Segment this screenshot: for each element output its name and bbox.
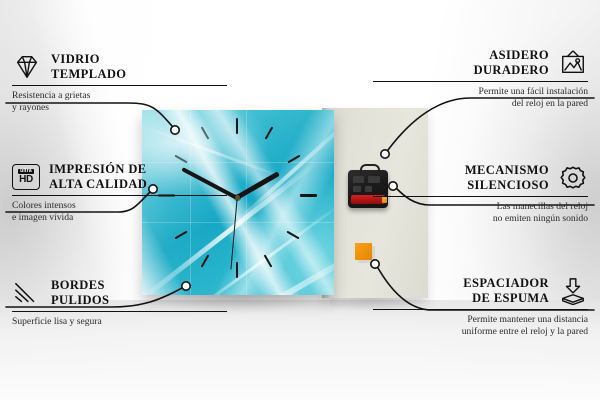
callout-divider	[373, 196, 588, 197]
callout-desc: Permite una fácil instalación	[373, 86, 588, 98]
callout-desc: Permite mantener una distancia	[373, 314, 588, 326]
callout-espaciador-de-espuma[interactable]: ESPACIADOR DE ESPUMA Permite mantener un…	[373, 276, 588, 337]
callout-impresion-alta-calidad[interactable]: ultra HD IMPRESIÓN DE ALTA CALIDAD Color…	[12, 162, 227, 223]
callout-divider	[12, 85, 227, 86]
callout-title: ASIDERO DURADERO	[474, 48, 549, 77]
diamond-icon	[12, 53, 42, 81]
callout-divider	[12, 311, 227, 312]
product-infographic: VIDRIO TEMPLADO Resistencia a grietas y …	[0, 0, 600, 400]
hour-marker	[236, 118, 238, 134]
hour-marker	[236, 262, 238, 278]
ultra-hd-icon: ultra HD	[12, 164, 40, 190]
callout-title: BORDES PULIDOS	[51, 278, 109, 307]
callout-header: ESPACIADOR DE ESPUMA	[373, 276, 588, 305]
wall-frame-hanger-icon	[558, 49, 588, 77]
callout-header: VIDRIO TEMPLADO	[12, 52, 227, 81]
callout-desc: e imagen vívida	[12, 212, 227, 224]
callout-divider	[373, 81, 588, 82]
callout-bordes-pulidos[interactable]: BORDES PULIDOS Superficie lisa y segura	[12, 278, 227, 328]
movement-slot	[353, 176, 364, 183]
callout-desc: no emiten ningún sonido	[373, 213, 588, 225]
callout-title: IMPRESIÓN DE ALTA CALIDAD	[49, 162, 147, 191]
callout-desc: y rayones	[12, 102, 227, 114]
callout-divider	[12, 195, 227, 196]
movement-slot	[365, 186, 372, 192]
callout-divider	[373, 309, 588, 310]
callout-header: BORDES PULIDOS	[12, 278, 227, 307]
hd-label: HD	[19, 174, 33, 185]
callout-header: MECANISMO SILENCIOSO	[373, 163, 588, 192]
callout-mecanismo-silencioso[interactable]: MECANISMO SILENCIOSO Las manecillas del …	[373, 163, 588, 224]
callout-title: VIDRIO TEMPLADO	[51, 52, 126, 81]
foam-spacer-arrow-icon	[558, 277, 588, 305]
callout-header: ultra HD IMPRESIÓN DE ALTA CALIDAD	[12, 162, 227, 191]
callout-desc: Colores intensos	[12, 200, 227, 212]
callout-title: ESPACIADOR DE ESPUMA	[463, 276, 549, 305]
callout-title: MECANISMO SILENCIOSO	[465, 163, 549, 192]
callout-header: ASIDERO DURADERO	[373, 48, 588, 77]
callout-desc: uniforme entre el reloj y la pared	[373, 326, 588, 338]
foam-spacer	[355, 243, 372, 260]
callout-desc: Las manecillas del reloj	[373, 201, 588, 213]
callout-vidrio-templado[interactable]: VIDRIO TEMPLADO Resistencia a grietas y …	[12, 52, 227, 113]
gear-icon	[558, 164, 588, 192]
clock-hub	[235, 195, 240, 200]
callout-desc: Superficie lisa y segura	[12, 316, 227, 328]
hour-marker	[300, 194, 317, 197]
polished-edges-icon	[12, 279, 42, 307]
movement-slot	[353, 186, 361, 192]
callout-asidero-duradero[interactable]: ASIDERO DURADERO Permite una fácil insta…	[373, 48, 588, 109]
callout-desc: Resistencia a grietas	[12, 90, 227, 102]
callout-desc: del reloj en la pared	[373, 98, 588, 110]
